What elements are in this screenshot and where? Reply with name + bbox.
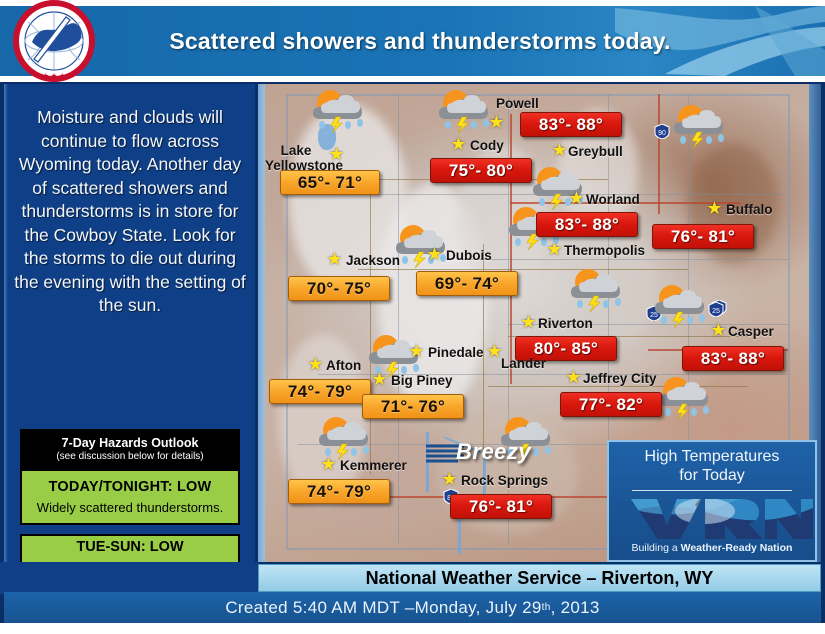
hazard-week-heading: TUE-SUN: LOW: [76, 539, 183, 555]
thunderstorm-icon: [671, 102, 733, 148]
national-weather-service-seal-icon: ★ ★ ★: [4, 0, 104, 82]
city-label-cody: Cody: [470, 138, 504, 153]
thunderstorm-icon: [568, 266, 630, 312]
temp-box-buffalo: 76°- 81°: [652, 224, 754, 249]
river: [458, 514, 461, 554]
temp-box-cody: 75°- 80°: [430, 158, 532, 183]
city-marker-buffalo: ★: [706, 200, 723, 217]
header-divider: [0, 76, 825, 82]
thunderstorm-icon: [656, 374, 718, 420]
city-marker-pinedale: ★: [408, 343, 425, 360]
city-label-afton: Afton: [326, 358, 361, 373]
city-marker-worland: ★: [568, 190, 585, 207]
city-label-jeffrey-city: Jeffrey City: [583, 371, 657, 386]
county-line: [398, 94, 399, 544]
high-temp-line1: High Temperatures: [609, 448, 815, 466]
hazard-today-body: Widely scattered thunderstorms.: [37, 500, 223, 515]
city-label-greybull: Greybull: [568, 144, 623, 159]
city-label-buffalo: Buffalo: [726, 202, 773, 217]
high-temp-line2: for Today: [609, 467, 815, 485]
city-label-riverton: Riverton: [538, 316, 593, 331]
temp-box-kemmerer: 74°- 79°: [288, 479, 390, 504]
temp-box-worland: 83°- 88°: [536, 212, 638, 237]
temp-box-afton: 74°- 79°: [269, 379, 371, 404]
forecast-discussion-text: Moisture and clouds will continue to flo…: [14, 106, 246, 318]
city-marker-rock-springs: ★: [441, 471, 458, 488]
temp-box-big-piney: 71°- 76°: [362, 394, 464, 419]
breezy-label: Breezy: [456, 439, 531, 465]
city-label-dubois: Dubois: [446, 248, 492, 263]
hazards-outlook-header: 7-Day Hazards Outlook (see discussion be…: [20, 429, 240, 469]
tagline-prefix: Building a: [632, 542, 681, 554]
city-label-powell: Powell: [496, 96, 539, 111]
temp-box-jackson: 70°- 75°: [288, 276, 390, 301]
left-panel-bottom-fill: [0, 562, 258, 594]
city-marker-jeffrey-city: ★: [565, 369, 582, 386]
highway: [358, 269, 688, 270]
city-marker-big-piney: ★: [371, 371, 388, 388]
created-timestamp-bar: Created 5:40 AM MDT –Monday, July 29th, …: [4, 592, 821, 623]
thunderstorm-icon: [310, 87, 372, 133]
city-marker-kemmerer: ★: [320, 456, 337, 473]
created-suffix: , 2013: [551, 598, 600, 618]
city-label-pinedale: Pinedale: [428, 345, 484, 360]
city-label-lake-yellowstone: Lake Yellowstone: [265, 144, 327, 173]
city-marker-cody: ★: [450, 136, 467, 153]
hazards-outlook-title: 7-Day Hazards Outlook: [62, 436, 199, 450]
svg-text:★ ★ ★: ★ ★ ★: [43, 72, 66, 80]
city-marker-greybull: ★: [551, 142, 568, 159]
city-label-lander: Lander: [501, 356, 546, 371]
city-marker-dubois: ★: [426, 246, 443, 263]
created-ordinal: th: [542, 602, 551, 613]
city-marker-powell: ★: [488, 114, 505, 131]
left-panel: Moisture and clouds will continue to flo…: [4, 84, 255, 589]
svg-text:90: 90: [658, 130, 666, 137]
city-marker-jackson: ★: [326, 251, 343, 268]
tagline-bold: Weather-Ready Nation: [681, 542, 793, 554]
temp-box-jeffrey-city: 77°- 82°: [560, 392, 662, 417]
temp-box-casper: 83°- 88°: [682, 346, 784, 371]
office-name-bar: National Weather Service – Riverton, WY: [258, 564, 821, 592]
city-marker-thermopolis: ★: [546, 241, 563, 258]
city-label-line1: Lake: [281, 143, 312, 158]
city-label-rock-springs: Rock Springs: [461, 473, 548, 488]
city-marker-riverton: ★: [520, 314, 537, 331]
city-label-thermopolis: Thermopolis: [564, 243, 645, 258]
city-label-worland: Worland: [586, 192, 640, 207]
temp-box-dubois: 69°- 74°: [416, 271, 518, 296]
thunderstorm-icon: [652, 282, 714, 328]
temp-box-powell: 83°- 88°: [520, 112, 622, 137]
city-label-big-piney: Big Piney: [391, 373, 453, 388]
hazard-today-box: TODAY/TONIGHT: LOW Widely scattered thun…: [20, 469, 240, 525]
high-temp-divider: [632, 490, 792, 491]
interstate-shield-90-icon: 90: [654, 124, 670, 139]
created-prefix: Created 5:40 AM MDT –Monday, July 29: [225, 598, 541, 618]
map-west-edge: [258, 84, 265, 562]
hazard-today-heading: TODAY/TONIGHT: LOW: [49, 479, 212, 495]
bottom-white-edge: [0, 623, 825, 634]
city-marker-afton: ★: [307, 356, 324, 373]
weather-graphic: Scattered showers and thunderstorms toda…: [0, 0, 825, 634]
city-label-jackson: Jackson: [346, 253, 400, 268]
temp-box-lake-yellowstone: 65°- 71°: [280, 170, 380, 195]
high-temperatures-panel: High Temperatures for Today Building a W…: [607, 440, 817, 562]
page-title: Scattered showers and thunderstorms toda…: [120, 6, 720, 76]
interstate-road: [658, 94, 660, 214]
city-label-casper: Casper: [728, 324, 774, 339]
city-marker-casper: ★: [710, 322, 727, 339]
weather-ready-nation-tagline: Building a Weather-Ready Nation: [609, 542, 815, 554]
weather-ready-nation-logo-icon: [609, 493, 815, 541]
left-panel-edge: [4, 84, 8, 589]
temp-box-rock-springs: 76°- 81°: [450, 494, 552, 519]
hazards-outlook-subtitle: (see discussion below for details): [56, 451, 203, 462]
header-banner: Scattered showers and thunderstorms toda…: [0, 0, 825, 82]
city-label-kemmerer: Kemmerer: [340, 458, 407, 473]
